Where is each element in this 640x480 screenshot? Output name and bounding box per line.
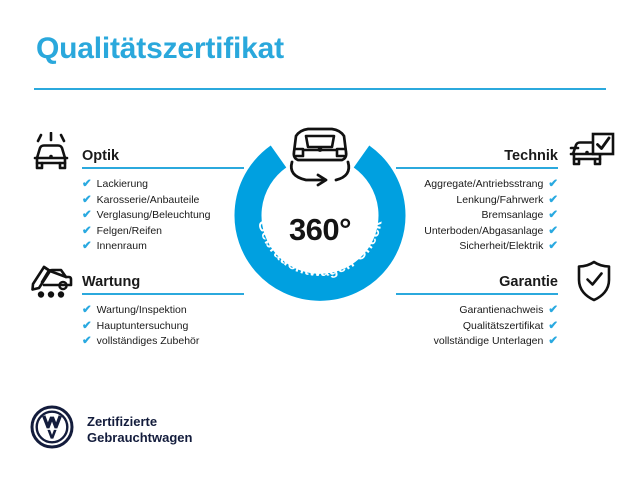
list-item: ✔Verglasung/Beleuchtung	[82, 208, 244, 224]
check-icon: ✔	[548, 177, 558, 193]
list-item: Bremsanlage✔	[396, 208, 558, 224]
section-divider	[396, 293, 558, 295]
list-item: ✔Innenraum	[82, 239, 244, 255]
list-item-label: Innenraum	[97, 239, 147, 255]
footer-line-2: Gebrauchtwagen	[87, 430, 192, 446]
title-divider	[34, 88, 606, 90]
volkswagen-logo-icon	[30, 405, 74, 454]
list-item: ✔Hauptuntersuchung	[82, 319, 244, 335]
section-title-technik: Technik	[504, 148, 558, 164]
check-icon: ✔	[548, 334, 558, 350]
footer-brand-text: Zertifizierte Gebrauchtwagen	[87, 414, 192, 446]
check-icon: ✔	[82, 193, 92, 209]
checklist-technik: Aggregate/Antriebsstrang✔ Lenkung/Fahrwe…	[396, 177, 558, 255]
section-divider	[82, 167, 244, 169]
list-item-label: Hauptuntersuchung	[97, 319, 189, 335]
badge-360-gebrauchtwagen-check: Gebrauchtwagen-Check	[228, 122, 412, 306]
list-item: ✔Lackierung	[82, 177, 244, 193]
section-header: Technik	[396, 142, 558, 166]
list-item-label: Lackierung	[97, 177, 148, 193]
section-optik: Optik ✔Lackierung ✔Karosserie/Anbauteile…	[82, 142, 244, 255]
check-icon: ✔	[82, 239, 92, 255]
checklist-garantie: Garantienachweis✔ Qualitätszertifikat✔ v…	[396, 303, 558, 350]
footer-line-1: Zertifizierte	[87, 414, 192, 430]
section-technik: Technik Aggregate/Antriebsstrang✔ Lenkun…	[396, 142, 558, 255]
badge-degrees-label: 360°	[228, 212, 412, 248]
check-icon: ✔	[82, 177, 92, 193]
list-item-label: Qualitätszertifikat	[463, 319, 544, 335]
check-icon: ✔	[82, 319, 92, 335]
check-icon: ✔	[548, 224, 558, 240]
check-icon: ✔	[82, 224, 92, 240]
list-item: Qualitätszertifikat✔	[396, 319, 558, 335]
section-title-optik: Optik	[82, 148, 119, 164]
footer-brand: Zertifizierte Gebrauchtwagen	[30, 405, 192, 454]
section-divider	[396, 167, 558, 169]
section-header: Garantie	[396, 268, 558, 292]
list-item-label: Garantienachweis	[459, 303, 543, 319]
list-item: ✔Karosserie/Anbauteile	[82, 193, 244, 209]
list-item-label: Felgen/Reifen	[97, 224, 162, 240]
check-icon: ✔	[548, 193, 558, 209]
certificate-page: Qualitätszertifikat	[0, 0, 640, 480]
list-item: Sicherheit/Elektrik✔	[396, 239, 558, 255]
check-icon: ✔	[82, 303, 92, 319]
check-icon: ✔	[548, 303, 558, 319]
check-icon: ✔	[82, 334, 92, 350]
list-item: ✔Wartung/Inspektion	[82, 303, 244, 319]
check-icon: ✔	[548, 239, 558, 255]
list-item-label: vollständiges Zubehör	[97, 334, 200, 350]
list-item-label: Karosserie/Anbauteile	[97, 193, 200, 209]
list-item-label: vollständige Unterlagen	[434, 334, 544, 350]
list-item: Lenkung/Fahrwerk✔	[396, 193, 558, 209]
list-item: vollständige Unterlagen✔	[396, 334, 558, 350]
section-header: Wartung	[82, 268, 244, 292]
checklist-optik: ✔Lackierung ✔Karosserie/Anbauteile ✔Verg…	[82, 177, 244, 255]
section-title-wartung: Wartung	[82, 274, 140, 290]
list-item-label: Unterboden/Abgasanlage	[424, 224, 543, 240]
list-item-label: Bremsanlage	[481, 208, 543, 224]
page-title: Qualitätszertifikat	[36, 32, 284, 66]
list-item-label: Lenkung/Fahrwerk	[456, 193, 543, 209]
list-item: Unterboden/Abgasanlage✔	[396, 224, 558, 240]
list-item: ✔Felgen/Reifen	[82, 224, 244, 240]
section-title-garantie: Garantie	[499, 274, 558, 290]
list-item-label: Sicherheit/Elektrik	[459, 239, 543, 255]
list-item-label: Wartung/Inspektion	[97, 303, 187, 319]
list-item: Garantienachweis✔	[396, 303, 558, 319]
check-icon: ✔	[82, 208, 92, 224]
car-front-headlights-icon	[28, 132, 74, 181]
car-service-pen-icon	[28, 258, 74, 307]
shield-check-icon	[574, 259, 614, 308]
checklist-wartung: ✔Wartung/Inspektion ✔Hauptuntersuchung ✔…	[82, 303, 244, 350]
section-garantie: Garantie Garantienachweis✔ Qualitätszert…	[396, 268, 558, 350]
check-icon: ✔	[548, 208, 558, 224]
section-header: Optik	[82, 142, 244, 166]
car-checkbox-icon	[568, 131, 616, 180]
list-item-label: Verglasung/Beleuchtung	[97, 208, 211, 224]
list-item: ✔vollständiges Zubehör	[82, 334, 244, 350]
list-item-label: Aggregate/Antriebsstrang	[424, 177, 543, 193]
section-wartung: Wartung ✔Wartung/Inspektion ✔Hauptunters…	[82, 268, 244, 350]
section-divider	[82, 293, 244, 295]
list-item: Aggregate/Antriebsstrang✔	[396, 177, 558, 193]
check-icon: ✔	[548, 319, 558, 335]
